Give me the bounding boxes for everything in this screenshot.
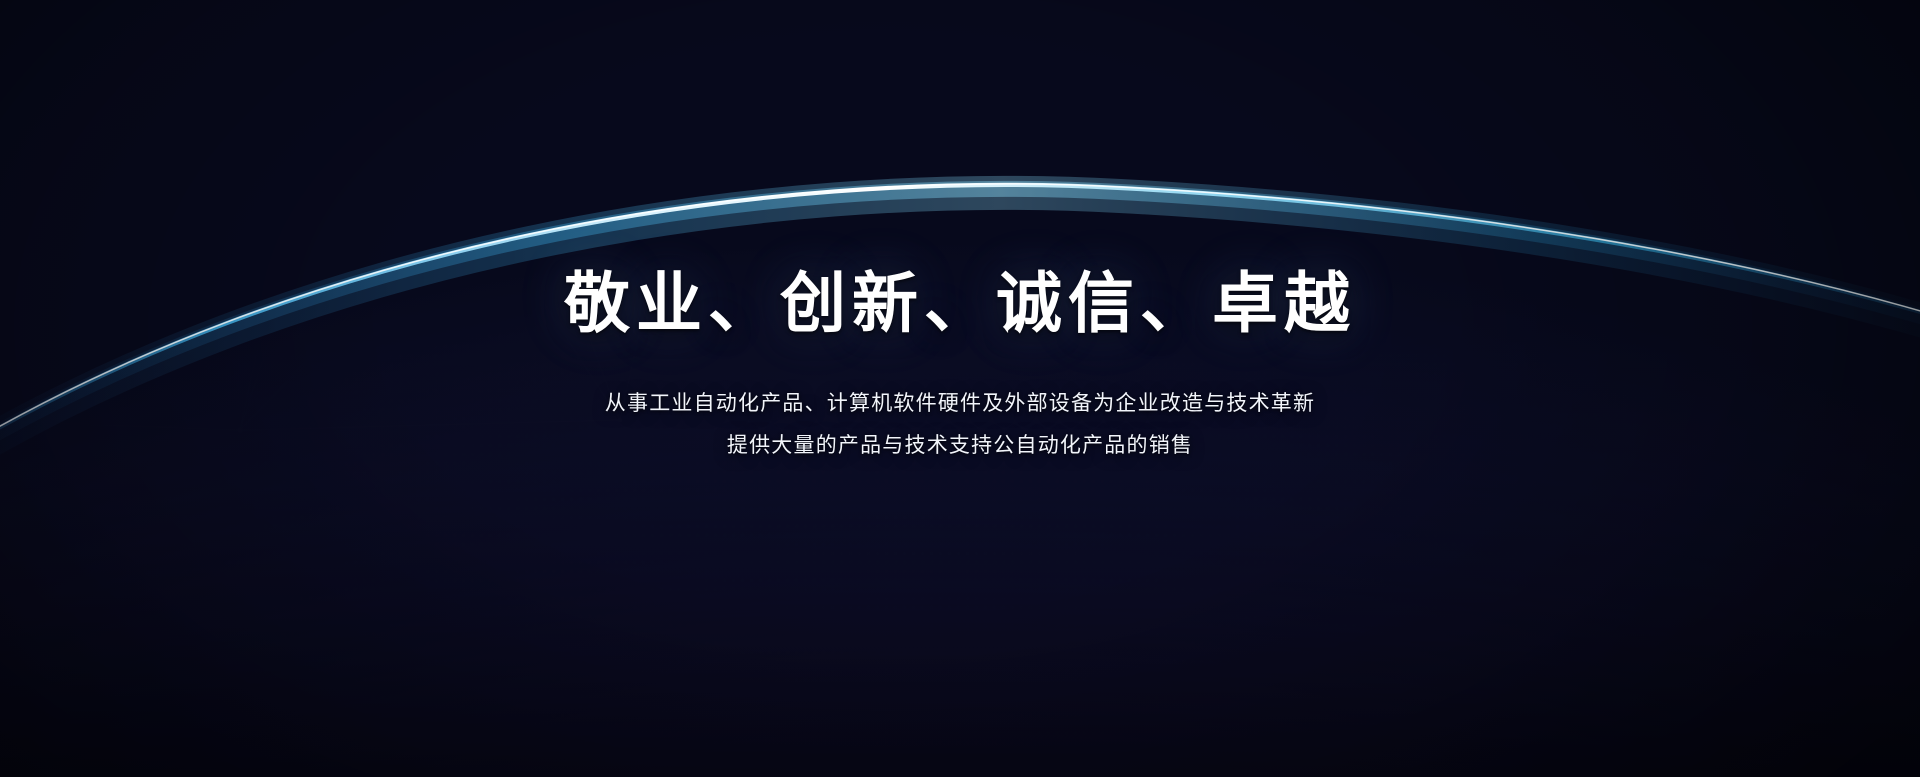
hero-subtitle: 从事工业自动化产品、计算机软件硬件及外部设备为企业改造与技术革新 提供大量的产品… [0,383,1920,467]
hero-subtitle-line-2: 提供大量的产品与技术支持公自动化产品的销售 [0,425,1920,467]
hero-banner: 010 010 010 010 010 [0,0,1920,777]
hero-content: 敬业、创新、诚信、卓越 从事工业自动化产品、计算机软件硬件及外部设备为企业改造与… [0,265,1920,467]
hero-headline: 敬业、创新、诚信、卓越 [0,265,1920,343]
hero-subtitle-line-1: 从事工业自动化产品、计算机软件硬件及外部设备为企业改造与技术革新 [0,383,1920,425]
